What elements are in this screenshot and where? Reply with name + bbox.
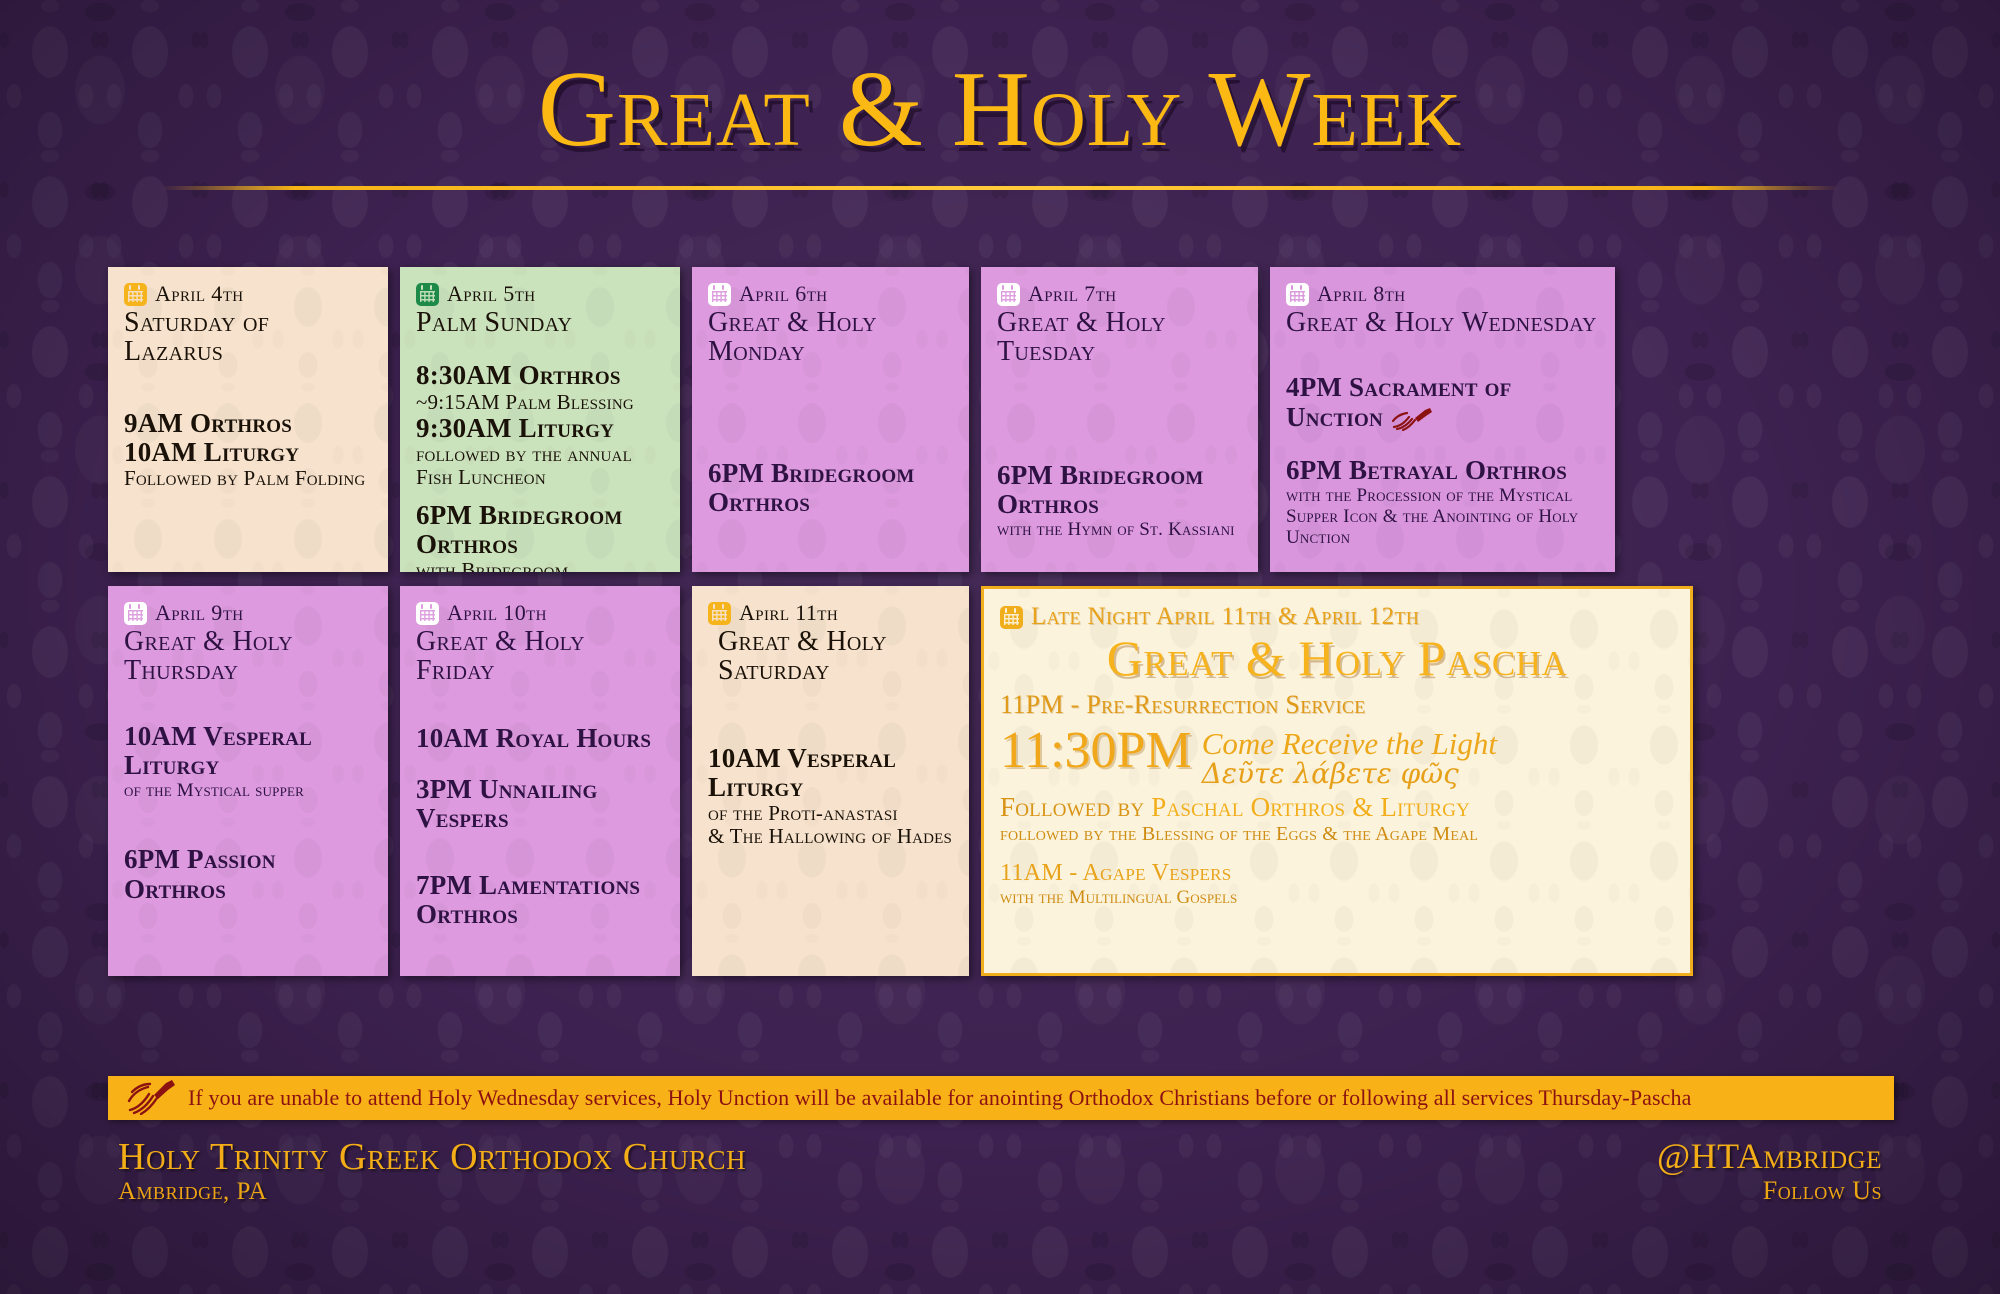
day-card-great-holy-saturday: Apirl 11th Great & Holy Saturday 10AM Ve…: [692, 586, 969, 976]
title-divider: [160, 186, 1840, 190]
service-title: 9AM Orthros: [124, 409, 372, 438]
pascha-followed-line: Followed by Paschal Orthros & Liturgy: [1000, 792, 1674, 823]
pascha-line-3: 11AM - Agape Vespers: [1000, 860, 1674, 887]
service-title: 6PM Betrayal Orthros: [1286, 456, 1599, 485]
card-day-name: Great & Holy Monday: [708, 308, 953, 367]
service-title: 10AM Liturgy: [124, 438, 372, 467]
card-day-name: Palm Sunday: [416, 308, 664, 337]
service-title: 4PM Sacrament of Unction: [1286, 373, 1599, 437]
unction-brush-icon: [126, 1077, 178, 1120]
service-title: 6PM Bridegroom Orthros: [997, 461, 1242, 519]
pascha-time-row: 11:30PM Come Receive the Light Δεῦτε λάβ…: [1000, 726, 1674, 790]
service-note: of the Proti-anastasi: [708, 802, 953, 825]
footer-right: @HTAmbridge Follow Us: [1657, 1138, 1882, 1206]
pascha-italic-greek: Δεῦτε λάβετε φῶς: [1202, 759, 1497, 790]
unction-notice-banner: If you are unable to attend Holy Wednesd…: [108, 1076, 1894, 1120]
card-day-name: Great & Holy Saturday: [708, 627, 953, 686]
calendar-icon: [708, 283, 731, 306]
card-spacer: [708, 688, 953, 744]
calendar-icon: [708, 602, 731, 625]
date-line: April 10th: [416, 600, 664, 626]
social-handle[interactable]: @HTAmbridge: [1657, 1138, 1882, 1174]
date-line: Apirl 11th: [708, 600, 953, 626]
date-line: April 7th: [997, 281, 1242, 307]
card-spacer: [416, 833, 664, 871]
calendar-icon: [124, 283, 147, 306]
day-card-great-holy-tuesday: April 7th Great & Holy Tuesday 6PM Bride…: [981, 267, 1258, 572]
card-date: Apirl 11th: [739, 600, 838, 626]
calendar-icon: [1000, 606, 1023, 629]
date-line: April 5th: [416, 281, 664, 307]
service-title: 8:30AM Orthros: [416, 361, 664, 390]
calendar-icon: [124, 602, 147, 625]
card-day-name: Great & Holy Friday: [416, 627, 664, 686]
service-note: with the Procession of the Mystical Supp…: [1286, 485, 1599, 549]
card-spacer: [416, 339, 664, 361]
day-card-saturday-of-lazarus: April 4th Saturday of Lazarus 9AM Orthro…: [108, 267, 388, 572]
calendar-icon: [997, 283, 1020, 306]
card-spacer: [416, 688, 664, 724]
service-note: with the Hymn of St. Kassiani: [997, 519, 1242, 540]
date-line: April 8th: [1286, 281, 1599, 307]
pascha-followed-sub: followed by the Blessing of the Eggs & t…: [1000, 823, 1674, 846]
card-date: April 6th: [739, 281, 828, 307]
card-spacer: [124, 801, 372, 845]
service-title: 10AM Vesperal Liturgy: [708, 744, 953, 802]
card-day-name: Saturday of Lazarus: [124, 308, 372, 367]
service-note: of the Mystical supper: [124, 780, 372, 801]
day-card-great-holy-pascha: Late Night April 11th & April 12th Great…: [981, 586, 1693, 976]
card-date: April 8th: [1317, 281, 1406, 307]
card-date: April 9th: [155, 600, 244, 626]
service-title: 7PM Lamentations Orthros: [416, 871, 664, 929]
day-card-great-holy-friday: April 10th Great & Holy Friday 10AM Roya…: [400, 586, 680, 976]
page-title: Great & Holy Week: [0, 56, 2000, 164]
pascha-followed-prefix: Followed by: [1000, 792, 1151, 822]
card-date: April 5th: [447, 281, 536, 307]
service-note: followed by the annual Fish Luncheon: [416, 443, 664, 489]
card-spacer: [708, 369, 953, 459]
day-card-great-holy-monday: April 6th Great & Holy Monday 6PM Brideg…: [692, 267, 969, 572]
church-name: Holy Trinity Greek Orthodox Church: [118, 1138, 746, 1176]
poster-title-wrap: Great & Holy Week: [0, 56, 2000, 164]
card-day-name: Great & Holy Wednesday: [1286, 308, 1599, 337]
pascha-big-time: 11:30PM: [1000, 726, 1192, 775]
date-line: April 9th: [124, 600, 372, 626]
service-title: 9:30AM Liturgy: [416, 414, 664, 443]
pascha-italic-block: Come Receive the Light Δεῦτε λάβετε φῶς: [1202, 726, 1497, 790]
footer-left: Holy Trinity Greek Orthodox Church Ambri…: [118, 1138, 746, 1206]
service-note: ~9:15AM Palm Blessing: [416, 391, 664, 414]
service-title: 10AM Vesperal Liturgy: [124, 722, 372, 780]
church-city: Ambridge, PA: [118, 1178, 746, 1206]
card-spacer: [1286, 339, 1599, 373]
date-line: April 6th: [708, 281, 953, 307]
calendar-icon: [416, 602, 439, 625]
service-note-2: & The Hallowing of Hades: [708, 825, 953, 848]
service-title: 6PM Passion Orthros: [124, 845, 372, 903]
pascha-italic-english: Come Receive the Light: [1202, 728, 1497, 759]
service-note: with Bridegroom Procession: [416, 559, 664, 572]
schedule-row-2: April 9th Great & Holy Thursday 10AM Ves…: [108, 586, 1894, 976]
pascha-line-3-sub: with the Multilingual Gospels: [1000, 887, 1674, 909]
card-day-name: Great & Holy Thursday: [124, 627, 372, 686]
card-spacer: [1286, 438, 1599, 456]
calendar-icon: [416, 283, 439, 306]
card-spacer: [416, 753, 664, 775]
service-title: 6PM Bridegroom Orthros: [416, 501, 664, 559]
day-card-palm-sunday: April 5th Palm Sunday 8:30AM Orthros ~9:…: [400, 267, 680, 572]
day-card-great-holy-wednesday: April 8th Great & Holy Wednesday 4PM Sac…: [1270, 267, 1615, 572]
unction-notice-text: If you are unable to attend Holy Wednesd…: [188, 1085, 1692, 1111]
unction-brush-icon: [1391, 406, 1435, 438]
date-line: Late Night April 11th & April 12th: [1000, 603, 1674, 631]
pascha-line-1: 11PM - Pre-Resurrection Service: [1000, 690, 1674, 720]
card-date: April 10th: [447, 600, 547, 626]
card-spacer: [124, 369, 372, 409]
service-title: 10AM Royal Hours: [416, 724, 664, 753]
pascha-date: Late Night April 11th & April 12th: [1031, 603, 1419, 631]
service-title: 3PM Unnailing Vespers: [416, 775, 664, 833]
card-date: April 7th: [1028, 281, 1117, 307]
card-day-name: Great & Holy Tuesday: [997, 308, 1242, 367]
pascha-title: Great & Holy Pascha: [1000, 633, 1674, 684]
card-spacer: [997, 369, 1242, 461]
card-spacer: [124, 688, 372, 722]
schedule-grid: April 4th Saturday of Lazarus 9AM Orthro…: [108, 267, 1894, 976]
service-title: 6PM Bridegroom Orthros: [708, 459, 953, 517]
card-date: April 4th: [155, 281, 244, 307]
date-line: April 4th: [124, 281, 372, 307]
schedule-row-1: April 4th Saturday of Lazarus 9AM Orthro…: [108, 267, 1894, 572]
pascha-followed-bold: Paschal Orthros & Liturgy: [1151, 792, 1470, 822]
day-card-great-holy-thursday: April 9th Great & Holy Thursday 10AM Ves…: [108, 586, 388, 976]
service-note: Followed by Palm Folding: [124, 467, 372, 490]
calendar-icon: [1286, 283, 1309, 306]
follow-us-label: Follow Us: [1657, 1176, 1882, 1206]
